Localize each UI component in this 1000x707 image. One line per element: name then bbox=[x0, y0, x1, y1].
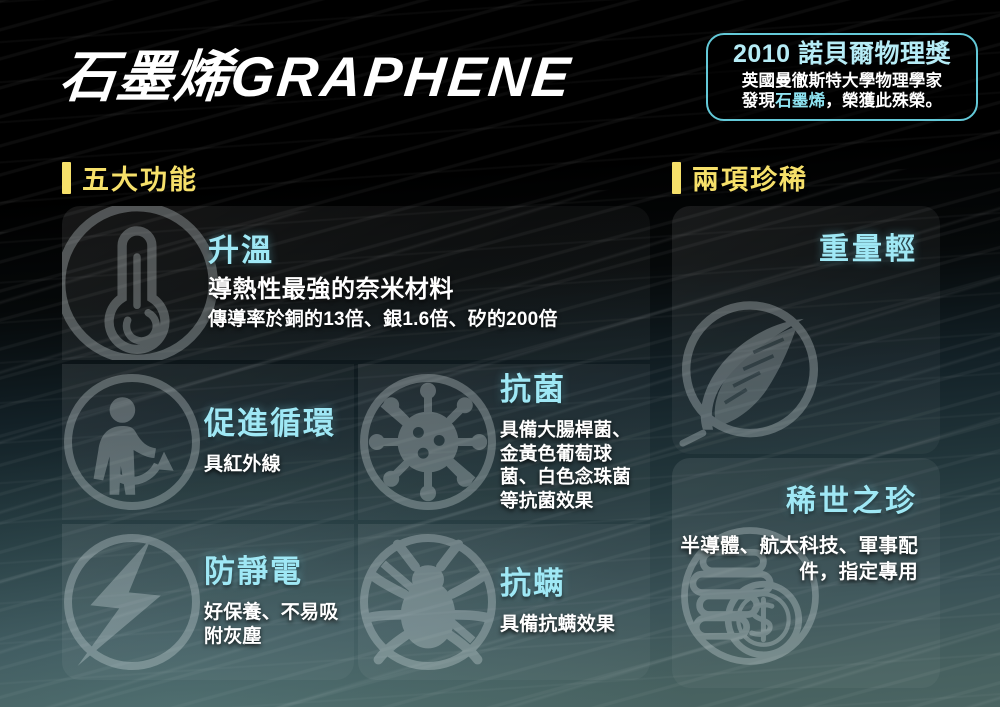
feature-desc: 具備大腸桿菌、金黃色葡萄球菌、白色念珠菌等抗菌效果 bbox=[500, 418, 640, 512]
poster-header: 石墨烯GRAPHENE 2010 諾貝爾物理獎 英國曼徹斯特大學物理學家 發現石… bbox=[60, 38, 978, 116]
rarity-card-text: 重量輕 bbox=[672, 206, 940, 282]
infographic-poster: 石墨烯GRAPHENE 2010 諾貝爾物理獎 英國曼徹斯特大學物理學家 發現石… bbox=[0, 0, 1000, 707]
features-grid: 升溫 導熱性最強的奈米材料 傳導率於銅的13倍、銀1.6倍、矽的200倍 促進循… bbox=[62, 206, 650, 688]
feature-card-antimite[interactable]: 抗螨 具備抗螨效果 bbox=[358, 524, 650, 680]
feature-title: 防靜電 bbox=[204, 554, 344, 590]
feature-card-circulation[interactable]: 促進循環 具紅外線 bbox=[62, 364, 354, 520]
feature-card-text: 升溫 導熱性最強的奈米材料 傳導率於銅的13倍、銀1.6倍、矽的200倍 bbox=[62, 233, 650, 332]
feature-card-text: 抗螨 具備抗螨效果 bbox=[358, 566, 650, 637]
feather-icon bbox=[672, 292, 834, 454]
section-bar-icon bbox=[672, 162, 681, 194]
nobel-badge-line1: 英國曼徹斯特大學物理學家 bbox=[722, 71, 962, 91]
nobel-badge-line2: 發現石墨烯，榮獲此殊榮。 bbox=[722, 91, 962, 111]
section-heading-two-rarities: 兩項珍稀 bbox=[672, 158, 808, 197]
feature-card-text: 抗菌 具備大腸桿菌、金黃色葡萄球菌、白色念珠菌等抗菌效果 bbox=[358, 372, 650, 513]
feature-card-antibacterial[interactable]: 抗菌 具備大腸桿菌、金黃色葡萄球菌、白色念珠菌等抗菌效果 bbox=[358, 364, 650, 520]
section-bar-icon bbox=[62, 162, 71, 194]
nobel-prize-badge: 2010 諾貝爾物理獎 英國曼徹斯特大學物理學家 發現石墨烯，榮獲此殊榮。 bbox=[706, 33, 978, 121]
section-heading-left-label: 五大功能 bbox=[82, 158, 198, 197]
rarities-grid: 重量輕 稀世之珍 bbox=[672, 206, 940, 688]
nobel-line2-post: ，榮獲此殊榮。 bbox=[825, 92, 942, 110]
feature-card-heating[interactable]: 升溫 導熱性最強的奈米材料 傳導率於銅的13倍、銀1.6倍、矽的200倍 bbox=[62, 206, 650, 360]
title-latin: GRAPHENE bbox=[228, 45, 576, 108]
feature-desc: 傳導率於銅的13倍、銀1.6倍、矽的200倍 bbox=[208, 308, 640, 333]
rarity-card-lightweight[interactable]: 重量輕 bbox=[672, 206, 940, 454]
feature-title: 升溫 bbox=[208, 233, 640, 269]
feature-title: 抗菌 bbox=[500, 372, 640, 408]
feature-card-text: 防靜電 好保養、不易吸附灰塵 bbox=[62, 554, 354, 650]
nobel-badge-body: 英國曼徹斯特大學物理學家 發現石墨烯，榮獲此殊榮。 bbox=[722, 71, 962, 111]
title-cjk: 石墨烯 bbox=[57, 45, 235, 108]
nobel-line2-highlight: 石墨烯 bbox=[775, 92, 825, 110]
page-title: 石墨烯GRAPHENE bbox=[57, 49, 575, 105]
feature-desc: 具紅外線 bbox=[204, 453, 344, 478]
section-heading-right-label: 兩項珍稀 bbox=[692, 158, 808, 197]
nobel-badge-title: 2010 諾貝爾物理獎 bbox=[722, 41, 962, 69]
feature-lead: 導熱性最強的奈米材料 bbox=[208, 275, 640, 305]
rarity-title: 稀世之珍 bbox=[672, 476, 918, 520]
rarity-card-precious[interactable]: 稀世之珍 半導體、航太科技、軍事配件，指定專用 bbox=[672, 458, 940, 688]
feature-title: 抗螨 bbox=[500, 566, 640, 602]
nobel-line2-pre: 發現 bbox=[742, 92, 775, 110]
rarity-title: 重量輕 bbox=[672, 224, 918, 268]
feature-card-text: 促進循環 具紅外線 bbox=[62, 406, 354, 477]
section-heading-five-functions: 五大功能 bbox=[62, 158, 198, 197]
feature-desc: 具備抗螨效果 bbox=[500, 613, 640, 638]
rarity-desc: 半導體、航太科技、軍事配件，指定專用 bbox=[672, 534, 918, 585]
rarity-card-text: 稀世之珍 半導體、航太科技、軍事配件，指定專用 bbox=[672, 458, 940, 585]
feature-title: 促進循環 bbox=[204, 406, 344, 442]
feature-card-antistatic[interactable]: 防靜電 好保養、不易吸附灰塵 bbox=[62, 524, 354, 680]
feature-desc: 好保養、不易吸附灰塵 bbox=[204, 601, 344, 650]
